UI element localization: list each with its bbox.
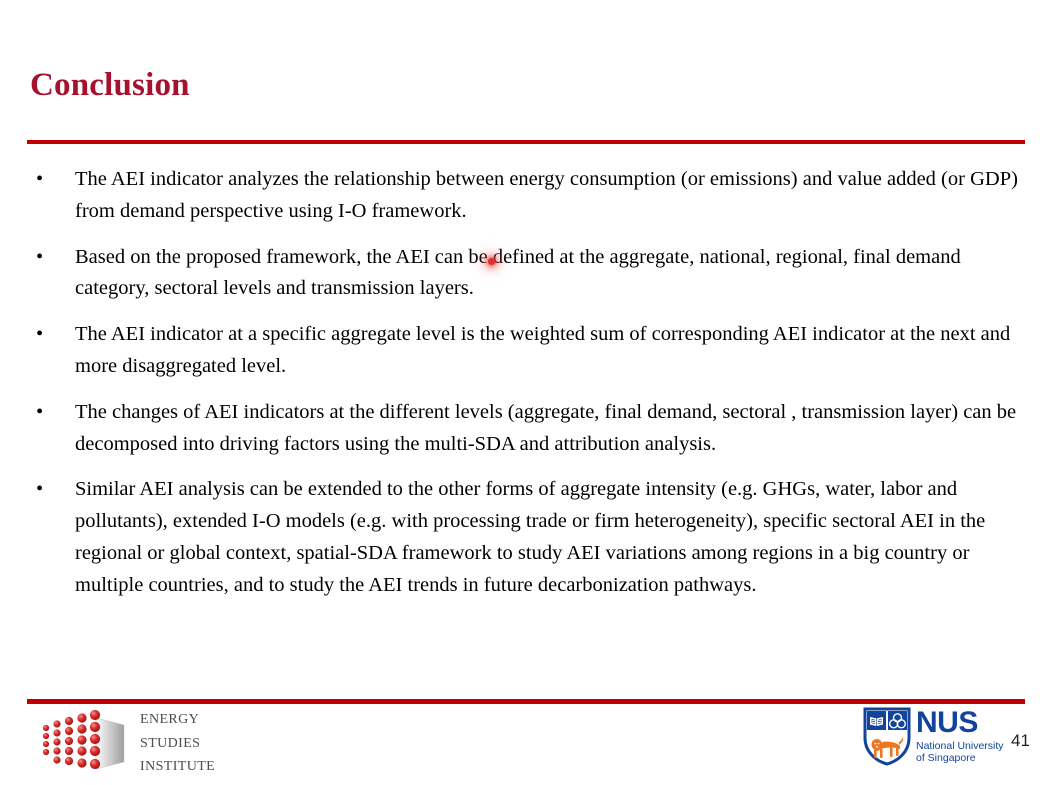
bullet-marker-icon: • bbox=[36, 319, 50, 351]
nus-shield-icon bbox=[862, 706, 912, 766]
nus-acronym: NUS bbox=[916, 708, 1006, 738]
list-item: • The AEI indicator analyzes the relatio… bbox=[30, 164, 1025, 228]
esi-wordmark-line-2: Studies bbox=[140, 730, 215, 754]
esi-wordmark-line-1: Energy bbox=[140, 706, 215, 730]
list-item-text: The AEI indicator analyzes the relations… bbox=[75, 164, 1025, 228]
nus-tagline: National University of Singapore bbox=[916, 740, 1006, 764]
bullet-marker-icon: • bbox=[36, 397, 50, 429]
nus-tagline-line-1: National University bbox=[916, 740, 1006, 752]
list-item-text: The AEI indicator at a specific aggregat… bbox=[75, 319, 1025, 383]
bullet-marker-icon: • bbox=[36, 474, 50, 506]
bullet-list: • The AEI indicator analyzes the relatio… bbox=[30, 164, 1025, 602]
list-item: • Based on the proposed framework, the A… bbox=[30, 242, 1025, 306]
list-item-text: Similar AEI analysis can be extended to … bbox=[75, 474, 1025, 601]
nus-tagline-line-2: of Singapore bbox=[916, 752, 1006, 764]
footer-divider-rule bbox=[27, 699, 1025, 704]
page-title: Conclusion bbox=[30, 66, 190, 104]
esi-wordmark: Energy Studies Institute bbox=[140, 706, 215, 777]
nus-wordmark: NUS National University of Singapore bbox=[916, 708, 1006, 764]
list-item-text: Based on the proposed framework, the AEI… bbox=[75, 242, 1025, 306]
slide-canvas: Conclusion • The AEI indicator analyzes … bbox=[0, 0, 1049, 785]
title-divider-rule bbox=[27, 140, 1025, 144]
list-item-text: The changes of AEI indicators at the dif… bbox=[75, 397, 1025, 461]
list-item: • The AEI indicator at a specific aggreg… bbox=[30, 319, 1025, 383]
bullet-marker-icon: • bbox=[36, 164, 50, 196]
list-item: • Similar AEI analysis can be extended t… bbox=[30, 474, 1025, 601]
esi-dots-icon bbox=[40, 708, 132, 778]
nus-logo: NUS National University of Singapore bbox=[862, 706, 1004, 772]
bullet-marker-icon: • bbox=[36, 242, 50, 274]
esi-logo: Energy Studies Institute bbox=[40, 706, 290, 780]
list-item: • The changes of AEI indicators at the d… bbox=[30, 397, 1025, 461]
page-number: 41 bbox=[1011, 731, 1030, 750]
esi-wordmark-line-3: Institute bbox=[140, 753, 215, 777]
